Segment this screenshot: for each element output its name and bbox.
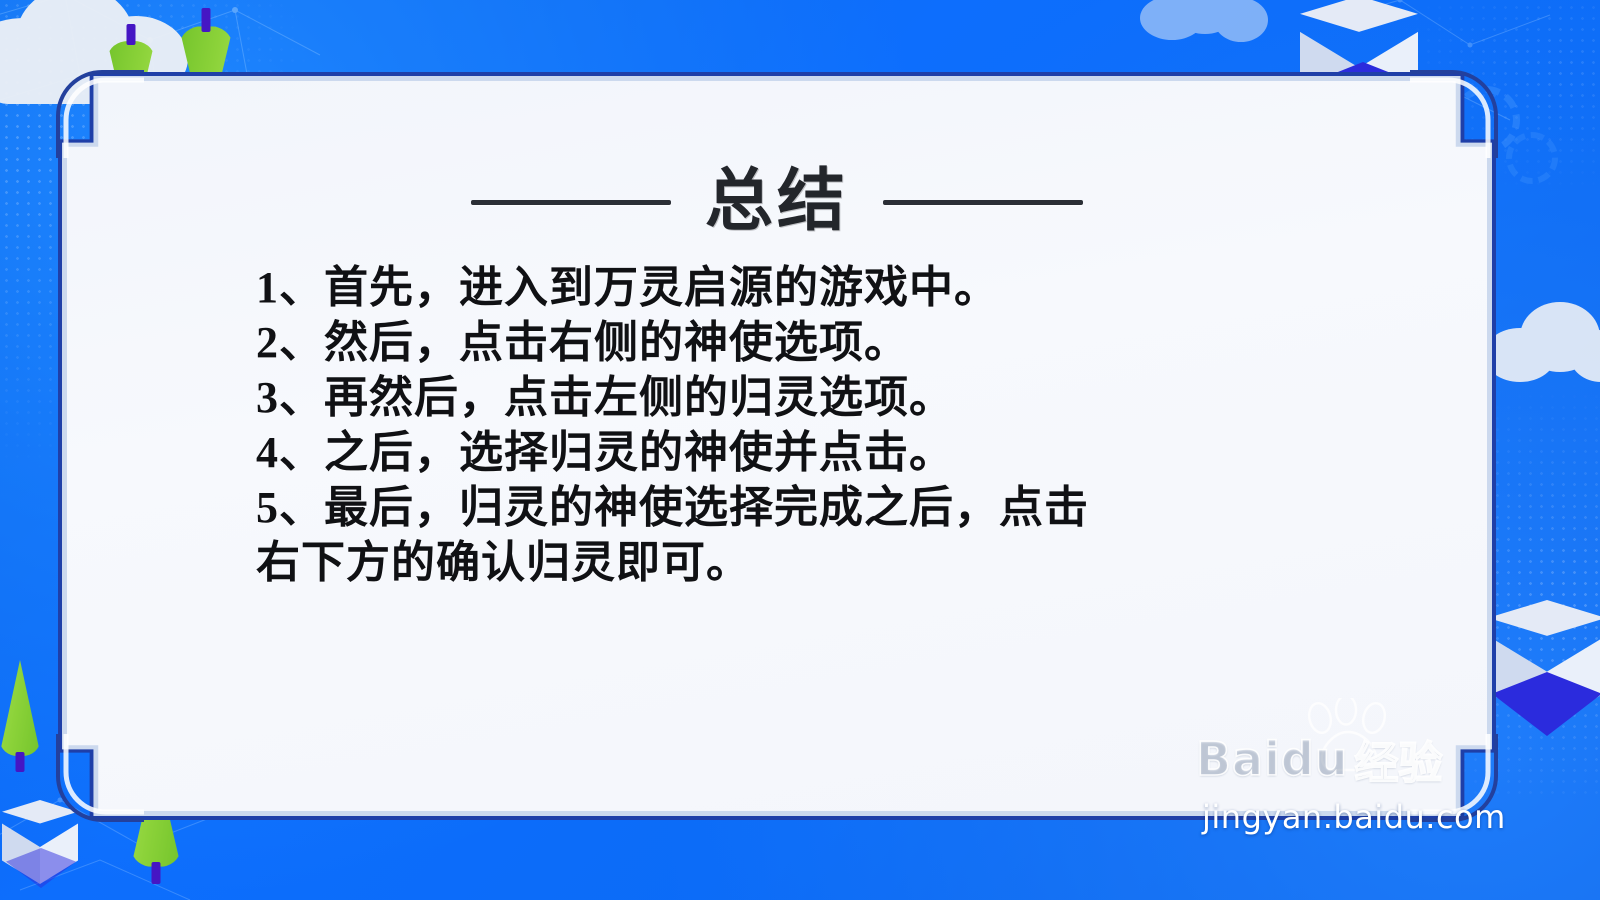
step-item-5-continued: 右下方的确认归灵即可。 [256,535,1346,590]
watermark-brand: Baidu 经验 [1196,728,1496,790]
title-rule-right [883,200,1083,205]
card-content: 总结 1、首先，进入到万灵启源的游戏中。 2、然后，点击右侧的神使选项。 3、再… [58,72,1496,820]
step-item-2: 2、然后，点击右侧的神使选项。 [256,315,1346,370]
page-title: 总结 [705,168,849,236]
watermark-url: jingyan.baidu.com [1202,798,1506,836]
steps-list: 1、首先，进入到万灵启源的游戏中。 2、然后，点击右侧的神使选项。 3、再然后，… [256,260,1346,590]
slide-canvas: 总结 1、首先，进入到万灵启源的游戏中。 2、然后，点击右侧的神使选项。 3、再… [0,0,1600,900]
watermark-brand-latin: Baidu [1196,732,1349,786]
title-rule-left [471,200,671,205]
gear-icon-top-right-small [1506,132,1558,184]
step-item-4: 4、之后，选择归灵的神使并点击。 [256,425,1346,480]
content-card: 总结 1、首先，进入到万灵启源的游戏中。 2、然后，点击右侧的神使选项。 3、再… [58,72,1496,820]
cloud-top-middle [1140,0,1270,42]
step-item-3: 3、再然后，点击左侧的归灵选项。 [256,370,1346,425]
tree-decoration-3 [0,660,40,772]
step-item-1: 1、首先，进入到万灵启源的游戏中。 [256,260,1346,315]
title-row: 总结 [58,168,1496,236]
cloud-right [1484,300,1600,388]
step-item-5: 5、最后，归灵的神使选择完成之后，点击 [256,480,1346,535]
watermark: Baidu 经验 jingyan.baidu.com [1196,722,1496,832]
watermark-brand-cn: 经验 [1355,727,1443,791]
